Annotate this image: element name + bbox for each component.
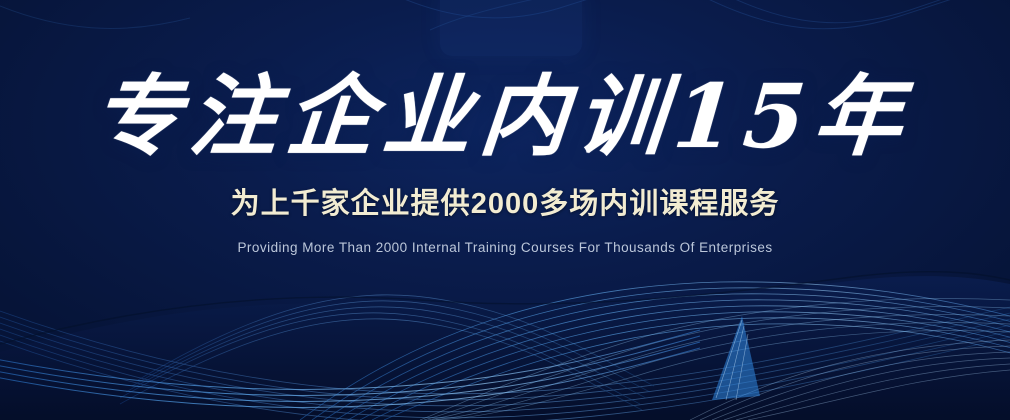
english-tagline: Providing More Than 2000 Internal Traini… bbox=[0, 240, 1010, 255]
page-title: 专注企业内训15年 bbox=[0, 0, 1010, 162]
promo-banner: 专注企业内训15年 为上千家企业提供2000多场内训课程服务 Providing… bbox=[0, 0, 1010, 420]
subtitle-text: 为上千家企业提供2000多场内训课程服务 bbox=[0, 180, 1010, 222]
banner-content: 专注企业内训15年 为上千家企业提供2000多场内训课程服务 Providing… bbox=[0, 0, 1010, 255]
